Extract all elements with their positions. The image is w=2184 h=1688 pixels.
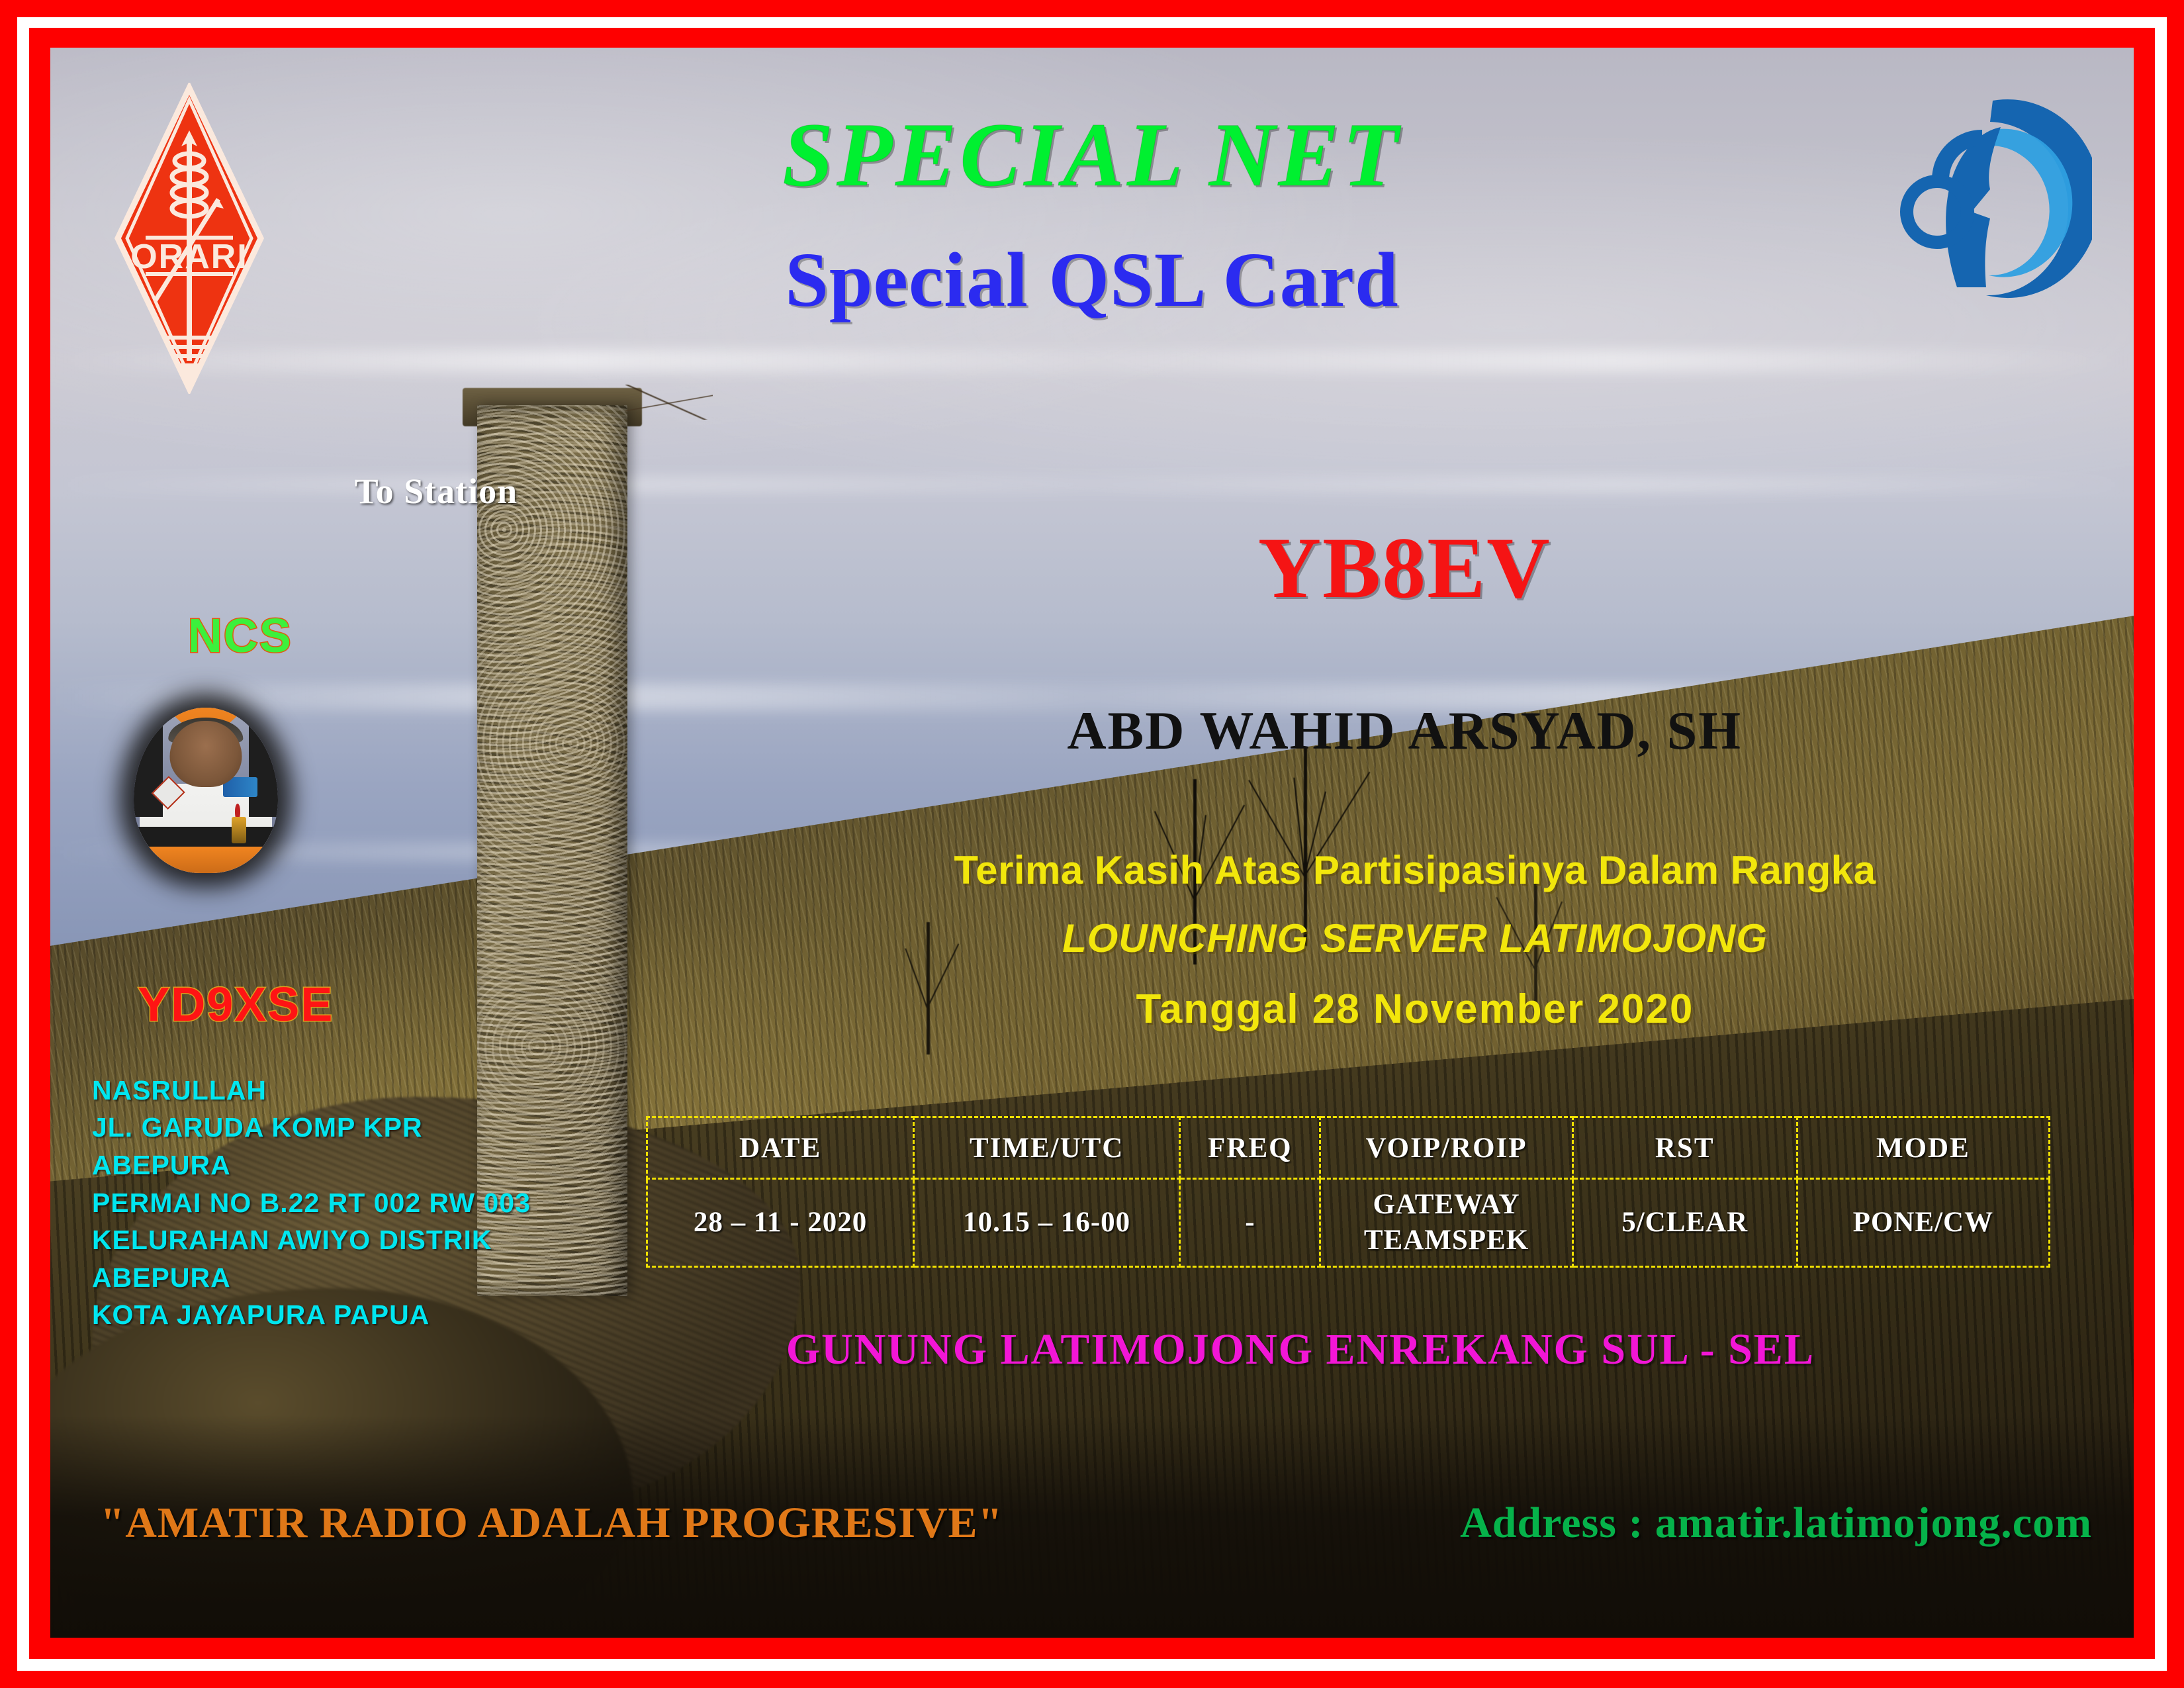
address-line: JL. GARUDA KOMP KPR <box>92 1109 531 1147</box>
motto-text: "AMATIR RADIO ADALAH PROGRESIVE" <box>101 1498 1003 1548</box>
to-station-label: To Station <box>355 471 518 512</box>
cell-mode: PONE/CW <box>1797 1179 2049 1267</box>
content-overlay: ORARI SPEC <box>50 48 2134 1638</box>
website-address: Address : amatir.latimojong.com <box>1460 1498 2092 1548</box>
column-header-voip-roip: VOIP/ROIP <box>1320 1117 1572 1179</box>
event-date-line: Tanggal 28 November 2020 <box>738 986 2092 1033</box>
ncs-operator-photo <box>134 708 278 873</box>
cell-voip-roip: GATEWAY TEAMSPEK <box>1320 1179 1572 1267</box>
operator-name: ABD WAHID ARSYAD, SH <box>758 700 2050 762</box>
ncs-callsign: YD9XSE <box>138 978 334 1032</box>
address-line: NASRULLAH <box>92 1072 531 1109</box>
address-line: PERMAI NO B.22 RT 002 RW 003 <box>92 1184 531 1222</box>
column-header-freq: FREQ <box>1180 1117 1320 1179</box>
cell-rst: 5/CLEAR <box>1572 1179 1797 1267</box>
page-subtitle-qsl-card: Special QSL Card <box>50 235 2134 325</box>
station-callsign: YB8EV <box>758 517 2050 618</box>
column-header-date: DATE <box>647 1117 914 1179</box>
address-line: ABEPURA <box>92 1259 531 1297</box>
ncs-address-block: NASRULLAH JL. GARUDA KOMP KPR ABEPURA PE… <box>92 1072 531 1334</box>
table-header-row: DATE TIME/UTC FREQ VOIP/ROIP RST MODE <box>647 1117 2050 1179</box>
column-header-time-utc: TIME/UTC <box>913 1117 1180 1179</box>
column-header-mode: MODE <box>1797 1117 2049 1179</box>
qso-log-table: DATE TIME/UTC FREQ VOIP/ROIP RST MODE 28… <box>646 1116 2050 1268</box>
column-header-rst: RST <box>1572 1117 1797 1179</box>
qsl-card: ORARI SPEC <box>0 0 2184 1688</box>
card-photo-area: ORARI SPEC <box>50 48 2134 1638</box>
thanks-line: Terima Kasih Atas Partisipasinya Dalam R… <box>738 847 2092 893</box>
address-line: KELURAHAN AWIYO DISTRIK <box>92 1221 531 1259</box>
table-row: 28 – 11 - 2020 10.15 – 16-00 - GATEWAY T… <box>647 1179 2050 1267</box>
cell-freq: - <box>1180 1179 1320 1267</box>
page-title-special-net: SPECIAL NET <box>50 102 2134 207</box>
address-line: ABEPURA <box>92 1147 531 1184</box>
address-line: KOTA JAYAPURA PAPUA <box>92 1296 531 1334</box>
location-line: GUNUNG LATIMOJONG ENREKANG SUL - SEL <box>592 1325 2009 1375</box>
cell-date: 28 – 11 - 2020 <box>647 1179 914 1267</box>
event-line: LOUNCHING SERVER LATIMOJONG <box>738 915 2092 961</box>
cell-time-utc: 10.15 – 16-00 <box>913 1179 1180 1267</box>
ncs-role-label: NCS <box>188 609 293 663</box>
